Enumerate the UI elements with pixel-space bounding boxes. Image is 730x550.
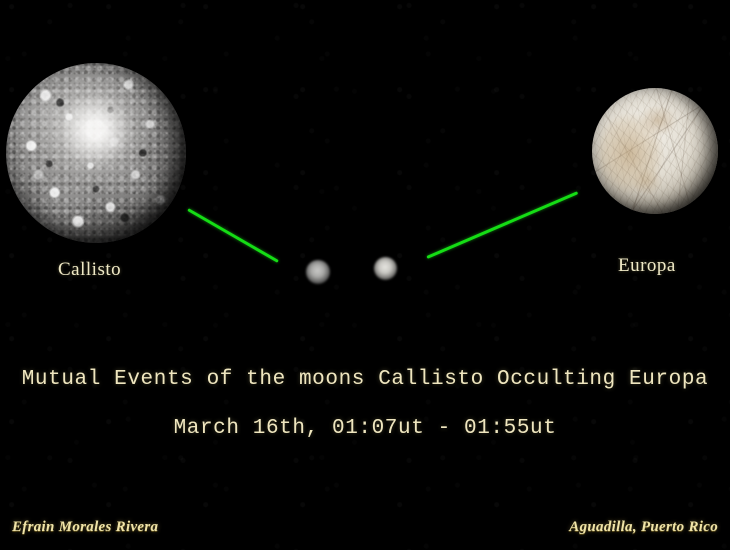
europa-moon-disc (592, 88, 718, 214)
europa-label: Europa (618, 255, 676, 277)
callisto-moon-disc (6, 63, 186, 243)
callisto-label: Callisto (58, 259, 121, 281)
telescopic-disc-callisto (306, 260, 330, 284)
astrophoto-composite: Callisto Europa Mutual Events of the moo… (0, 0, 730, 550)
caption-title: Mutual Events of the moons Callisto Occu… (0, 368, 730, 391)
callisto-crater-speckle-layer-fine (6, 63, 186, 243)
caption-block: Mutual Events of the moons Callisto Occu… (0, 368, 730, 440)
credit-author: Efrain Morales Rivera (12, 519, 158, 536)
telescopic-disc-europa (374, 257, 397, 280)
caption-time: March 16th, 01:07ut - 01:55ut (0, 417, 730, 440)
credit-location: Aguadilla, Puerto Rico (569, 519, 718, 536)
europa-linea-texture (592, 88, 718, 214)
callisto-pointer-line (187, 208, 279, 263)
europa-pointer-line (426, 191, 578, 259)
